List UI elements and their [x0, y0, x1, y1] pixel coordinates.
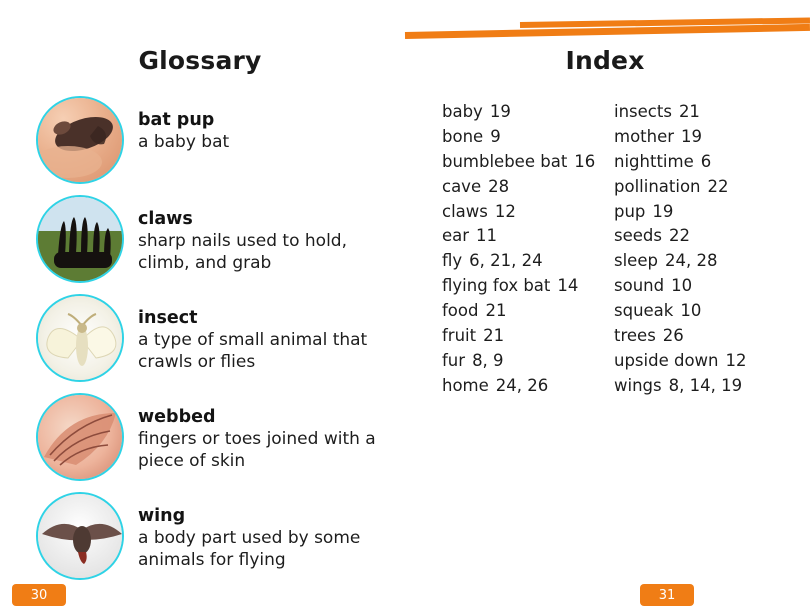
index-entry: food21 [442, 303, 614, 320]
glossary-entry-text: insect a type of small animal that crawl… [124, 294, 386, 373]
index-entry: squeak10 [614, 303, 786, 320]
bat-pup-photo [36, 96, 124, 184]
index-word: fur [442, 351, 465, 370]
index-entry: flying fox bat14 [442, 278, 614, 295]
index-pages: 22 [701, 177, 729, 196]
index-pages: 9 [483, 127, 501, 146]
glossary-entry: webbed fingers or toes joined with a pie… [36, 393, 386, 481]
index-column-two: insects21 mother19 nighttime6 pollinatio… [614, 104, 786, 403]
index-pages: 11 [469, 226, 497, 245]
glossary-term: webbed [138, 407, 386, 429]
glossary-entry-text: wing a body part used by some animals fo… [124, 492, 386, 571]
index-word: bone [442, 127, 483, 146]
index-page: Index baby19 bone9 bumblebee bat16 cave2… [400, 0, 810, 580]
index-word: baby [442, 102, 483, 121]
index-word: seeds [614, 226, 662, 245]
index-entry: pollination22 [614, 179, 786, 196]
glossary-term: claws [138, 209, 386, 231]
bat-flying-illustration-icon [38, 494, 124, 580]
index-pages: 10 [664, 276, 692, 295]
glossary-term: insect [138, 308, 386, 330]
index-pages: 16 [567, 152, 595, 171]
index-pages: 21 [478, 301, 506, 320]
index-word: flying fox bat [442, 276, 550, 295]
index-column-one: baby19 bone9 bumblebee bat16 cave28 claw… [442, 104, 614, 403]
index-pages: 21 [476, 326, 504, 345]
glossary-entry-text: webbed fingers or toes joined with a pie… [124, 393, 386, 472]
insect-photo [36, 294, 124, 382]
glossary-entry-text: bat pup a baby bat [124, 96, 229, 154]
webbed-wing-illustration-icon [38, 395, 124, 481]
index-word: cave [442, 177, 481, 196]
index-pages: 6, 21, 24 [462, 251, 542, 270]
index-word: bumblebee bat [442, 152, 567, 171]
bat-pup-illustration-icon [38, 98, 124, 184]
index-entry: sleep24, 28 [614, 253, 786, 270]
index-entry: cave28 [442, 179, 614, 196]
index-pages: 24, 28 [658, 251, 717, 270]
index-word: food [442, 301, 478, 320]
moth-illustration-icon [38, 296, 124, 382]
index-word: upside down [614, 351, 719, 370]
index-word: nighttime [614, 152, 694, 171]
index-entry: bumblebee bat16 [442, 154, 614, 171]
glossary-page: Glossary bat pup a baby [0, 0, 400, 580]
index-word: wings [614, 376, 662, 395]
index-pages: 19 [645, 202, 673, 221]
bat-wing-photo [36, 492, 124, 580]
index-entry: fruit21 [442, 328, 614, 345]
index-entry: seeds22 [614, 228, 786, 245]
index-pages: 21 [672, 102, 700, 121]
spread-page: Glossary bat pup a baby [0, 0, 810, 616]
index-entry: claws12 [442, 204, 614, 221]
glossary-entry: wing a body part used by some animals fo… [36, 492, 386, 580]
glossary-entry-text: claws sharp nails used to hold, climb, a… [124, 195, 386, 274]
index-word: pup [614, 202, 645, 221]
index-entry: sound10 [614, 278, 786, 295]
index-entry: fly6, 21, 24 [442, 253, 614, 270]
glossary-term: bat pup [138, 110, 229, 132]
index-entry: mother19 [614, 129, 786, 146]
index-pages: 8, 14, 19 [662, 376, 742, 395]
index-entry: baby19 [442, 104, 614, 121]
index-pages: 14 [550, 276, 578, 295]
index-pages: 19 [483, 102, 511, 121]
glossary-entry: claws sharp nails used to hold, climb, a… [36, 195, 386, 283]
index-entry: insects21 [614, 104, 786, 121]
index-entry: fur8, 9 [442, 353, 614, 370]
index-pages: 22 [662, 226, 690, 245]
index-pages: 28 [481, 177, 509, 196]
index-word: squeak [614, 301, 673, 320]
index-pages: 6 [694, 152, 712, 171]
glossary-definition: a type of small animal that crawls or fl… [138, 330, 386, 374]
index-word: pollination [614, 177, 701, 196]
glossary-definition: sharp nails used to hold, climb, and gra… [138, 231, 386, 275]
glossary-heading: Glossary [0, 46, 400, 75]
index-entry: trees26 [614, 328, 786, 345]
index-word: fruit [442, 326, 476, 345]
index-pages: 24, 26 [489, 376, 548, 395]
index-entry: wings8, 14, 19 [614, 378, 786, 395]
index-entry: upside down12 [614, 353, 786, 370]
index-word: home [442, 376, 489, 395]
index-pages: 10 [673, 301, 701, 320]
index-word: sleep [614, 251, 658, 270]
index-entry: ear11 [442, 228, 614, 245]
index-word: insects [614, 102, 672, 121]
index-entry: home24, 26 [442, 378, 614, 395]
index-word: ear [442, 226, 469, 245]
index-word: claws [442, 202, 488, 221]
index-word: fly [442, 251, 462, 270]
index-pages: 19 [674, 127, 702, 146]
index-entry: pup19 [614, 204, 786, 221]
page-number-left: 30 [12, 584, 66, 606]
glossary-entry: insect a type of small animal that crawl… [36, 294, 386, 382]
index-pages: 12 [488, 202, 516, 221]
index-pages: 8, 9 [465, 351, 504, 370]
index-entry: nighttime6 [614, 154, 786, 171]
glossary-entry-list: bat pup a baby bat [36, 96, 386, 591]
glossary-entry: bat pup a baby bat [36, 96, 386, 184]
claws-illustration-icon [38, 197, 124, 283]
page-number-right: 31 [640, 584, 694, 606]
claws-photo [36, 195, 124, 283]
index-word: mother [614, 127, 674, 146]
index-word: sound [614, 276, 664, 295]
glossary-definition: fingers or toes joined with a piece of s… [138, 429, 386, 473]
index-pages: 12 [719, 351, 747, 370]
index-heading: Index [400, 46, 810, 75]
index-pages: 26 [656, 326, 684, 345]
index-columns: baby19 bone9 bumblebee bat16 cave28 claw… [442, 104, 810, 403]
glossary-definition: a body part used by some animals for fly… [138, 528, 386, 572]
glossary-term: wing [138, 506, 386, 528]
webbed-wing-photo [36, 393, 124, 481]
index-entry: bone9 [442, 129, 614, 146]
glossary-definition: a baby bat [138, 132, 229, 154]
index-word: trees [614, 326, 656, 345]
